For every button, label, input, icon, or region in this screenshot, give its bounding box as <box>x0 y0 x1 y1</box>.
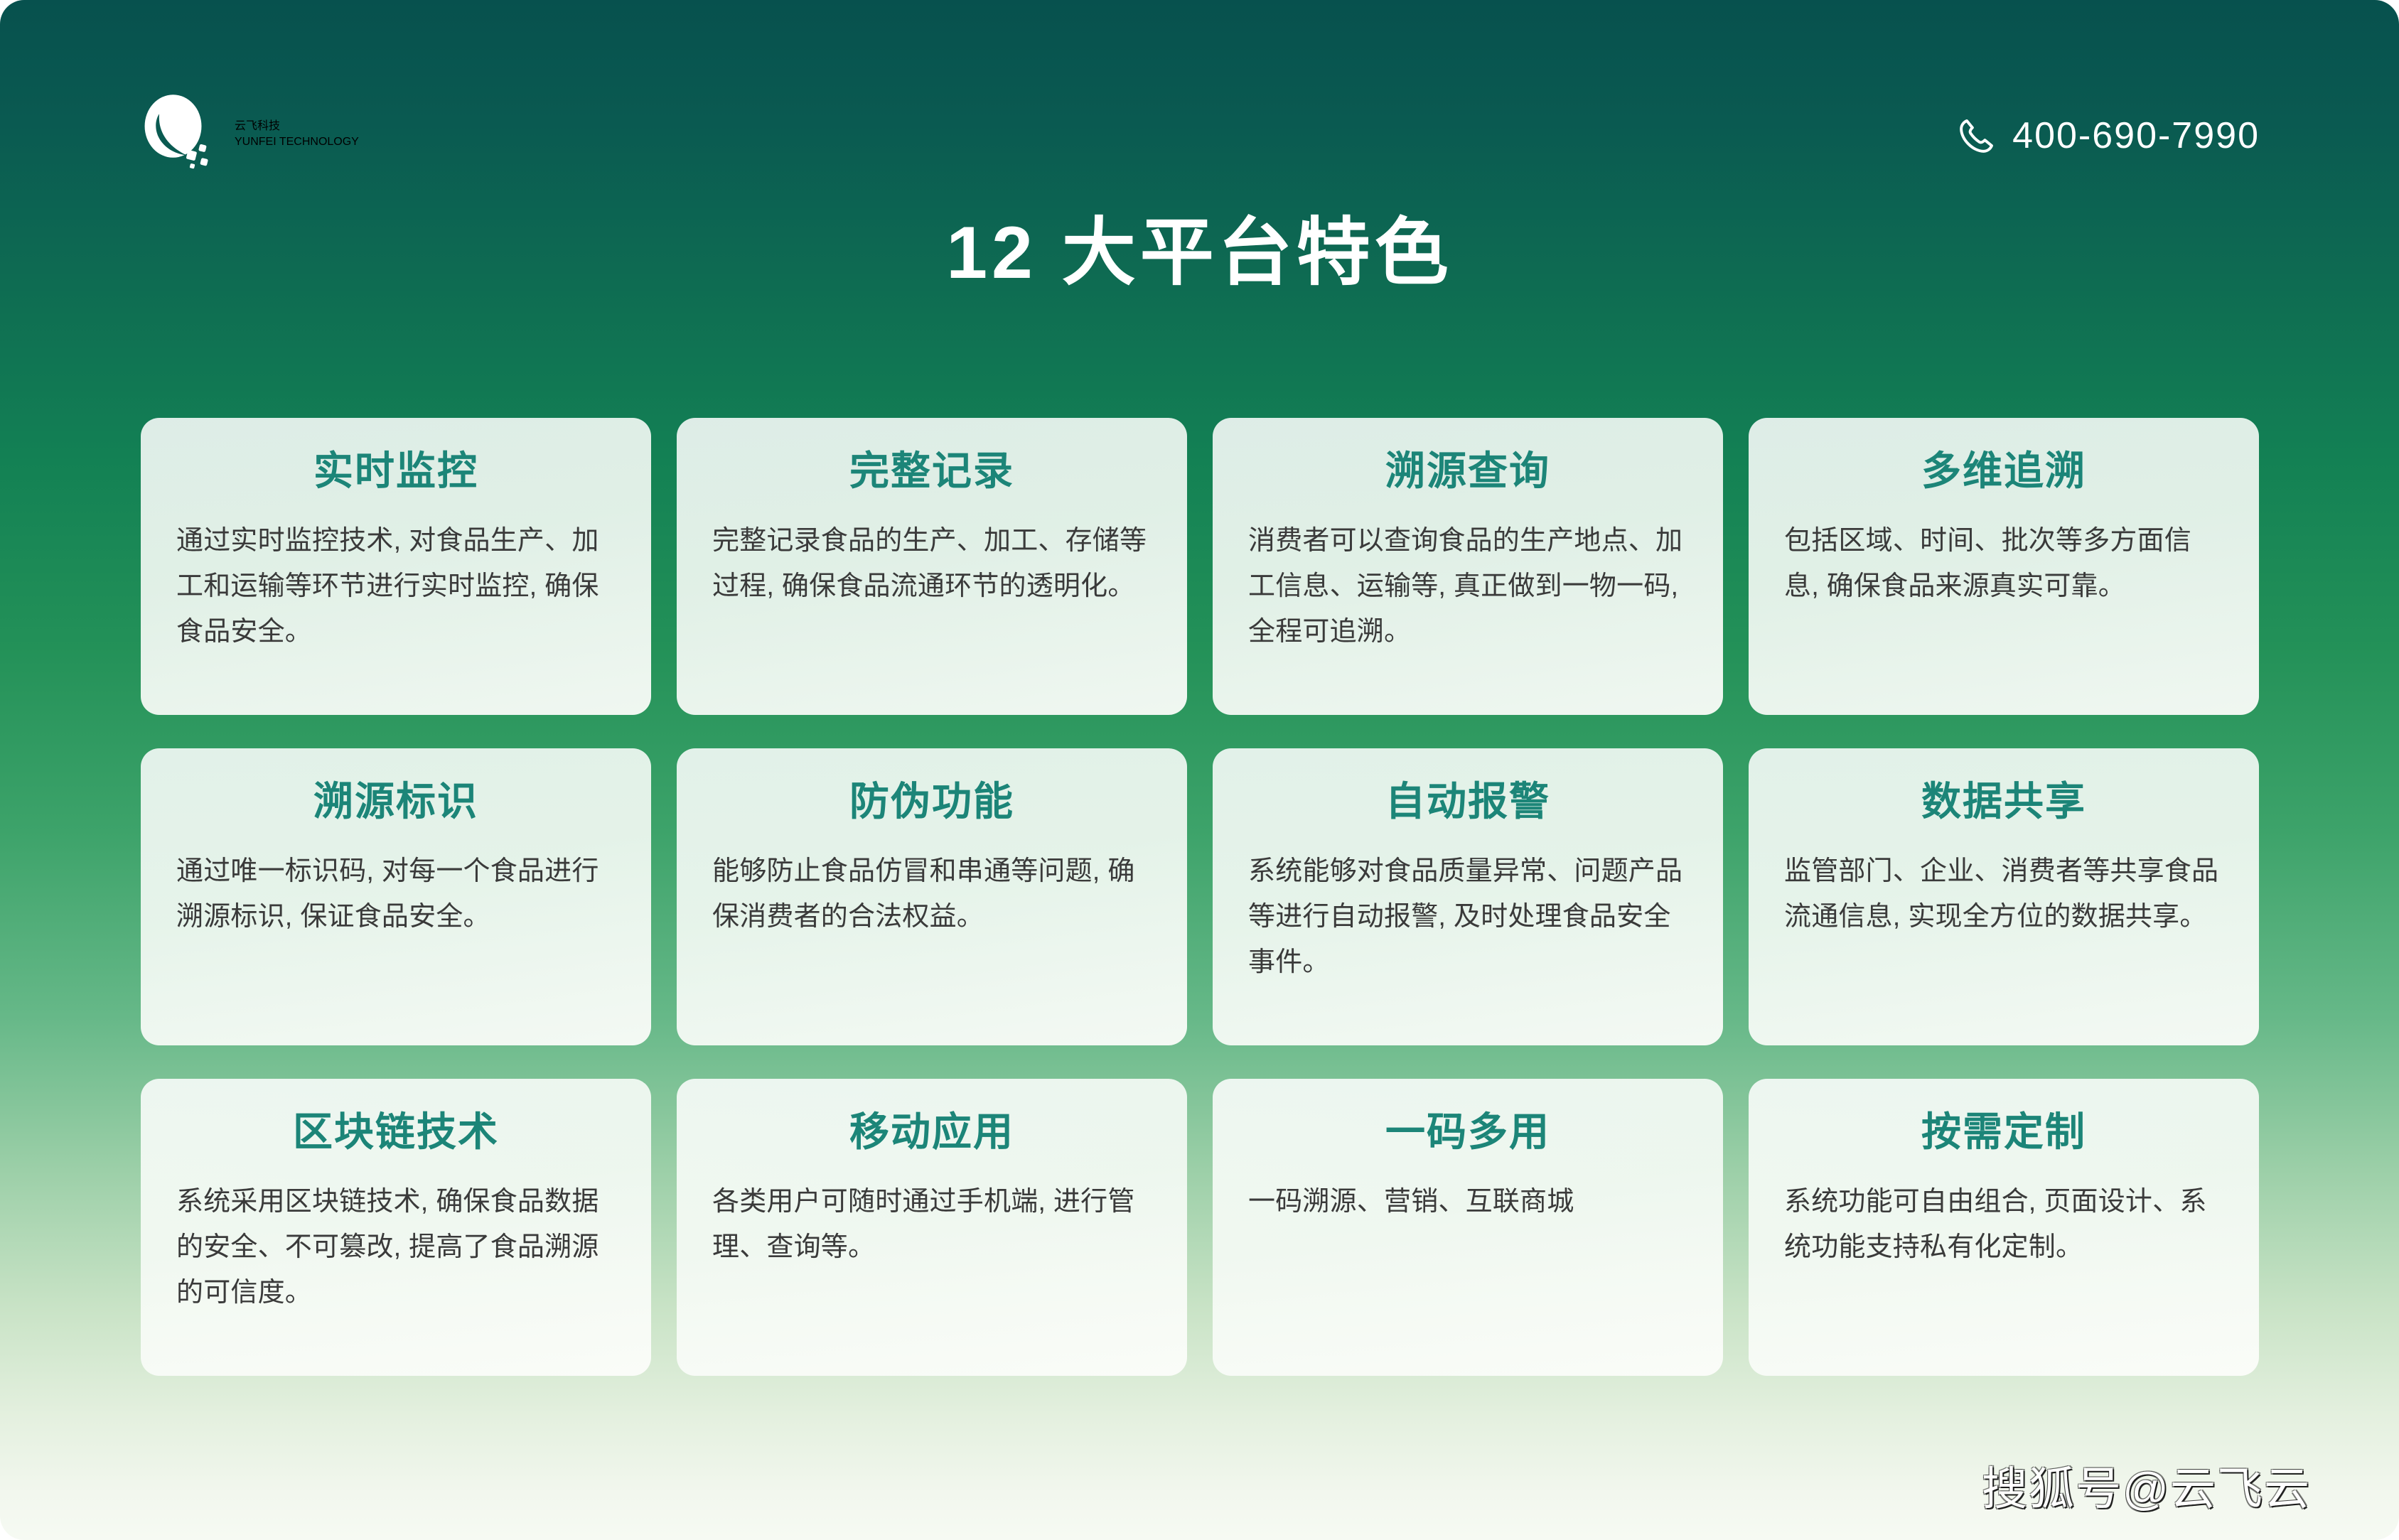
brand-name-cn: 云飞科技 <box>235 116 359 133</box>
poster-canvas: 云飞科技 YUNFEI TECHNOLOGY 400-690-7990 12 大… <box>0 0 2399 1540</box>
feature-card[interactable]: 按需定制 系统功能可自由组合, 页面设计、系统功能支持私有化定制。 <box>1749 1079 2259 1376</box>
feature-card[interactable]: 一码多用 一码溯源、营销、互联商城 <box>1213 1079 1723 1376</box>
feature-card-title: 自动报警 <box>1385 778 1550 825</box>
feature-card-body: 完整记录食品的生产、加工、存储等过程, 确保食品流通环节的透明化。 <box>712 519 1152 610</box>
phone-number: 400-690-7990 <box>2012 117 2260 154</box>
feature-card[interactable]: 区块链技术 系统采用区块链技术, 确保食品数据的安全、不可篡改, 提高了食品溯源… <box>141 1079 651 1376</box>
feature-card-body: 消费者可以查询食品的生产地点、加工信息、运输等, 真正做到一物一码, 全程可追溯… <box>1248 519 1687 655</box>
feature-card-title: 完整记录 <box>849 448 1014 495</box>
page-title: 12 大平台特色 <box>0 206 2399 301</box>
feature-card-title: 按需定制 <box>1921 1109 2086 1156</box>
feature-card-body: 系统能够对食品质量异常、问题产品等进行自动报警, 及时处理食品安全事件。 <box>1248 849 1687 985</box>
phone-handset-icon <box>1957 116 1997 156</box>
feature-card-body: 能够防止食品仿冒和串通等问题, 确保消费者的合法权益。 <box>712 849 1152 940</box>
feature-card[interactable]: 完整记录 完整记录食品的生产、加工、存储等过程, 确保食品流通环节的透明化。 <box>677 418 1187 715</box>
feature-card-title: 移动应用 <box>849 1109 1014 1156</box>
leaf-circle-logo-icon <box>139 92 216 169</box>
feature-card-title: 溯源标识 <box>313 778 478 825</box>
feature-card[interactable]: 自动报警 系统能够对食品质量异常、问题产品等进行自动报警, 及时处理食品安全事件… <box>1213 748 1723 1045</box>
brand-text: 云飞科技 YUNFEI TECHNOLOGY <box>235 113 359 149</box>
feature-card[interactable]: 多维追溯 包括区域、时间、批次等多方面信息, 确保食品来源真实可靠。 <box>1749 418 2259 715</box>
feature-card-title: 数据共享 <box>1921 778 2086 825</box>
feature-card[interactable]: 实时监控 通过实时监控技术, 对食品生产、加工和运输等环节进行实时监控, 确保食… <box>141 418 651 715</box>
feature-card-body: 通过实时监控技术, 对食品生产、加工和运输等环节进行实时监控, 确保食品安全。 <box>176 519 616 655</box>
feature-card-body: 监管部门、企业、消费者等共享食品流通信息, 实现全方位的数据共享。 <box>1784 849 2223 940</box>
feature-card-body: 系统功能可自由组合, 页面设计、系统功能支持私有化定制。 <box>1784 1180 2223 1271</box>
feature-card-title: 溯源查询 <box>1385 448 1550 495</box>
feature-card-title: 防伪功能 <box>849 778 1014 825</box>
feature-card-title: 实时监控 <box>313 448 478 495</box>
brand-lockup: 云飞科技 YUNFEI TECHNOLOGY <box>139 92 359 169</box>
feature-card-title: 多维追溯 <box>1921 448 2086 495</box>
feature-card-body: 包括区域、时间、批次等多方面信息, 确保食品来源真实可靠。 <box>1784 519 2223 610</box>
feature-card-title: 一码多用 <box>1385 1109 1550 1156</box>
feature-card[interactable]: 防伪功能 能够防止食品仿冒和串通等问题, 确保消费者的合法权益。 <box>677 748 1187 1045</box>
feature-card[interactable]: 移动应用 各类用户可随时通过手机端, 进行管理、查询等。 <box>677 1079 1187 1376</box>
poster-header: 云飞科技 YUNFEI TECHNOLOGY 400-690-7990 <box>0 0 2399 185</box>
brand-name-en: YUNFEI TECHNOLOGY <box>235 136 359 149</box>
feature-card[interactable]: 溯源标识 通过唯一标识码, 对每一个食品进行溯源标识, 保证食品安全。 <box>141 748 651 1045</box>
feature-card-body: 系统采用区块链技术, 确保食品数据的安全、不可篡改, 提高了食品溯源的可信度。 <box>176 1180 616 1315</box>
feature-card[interactable]: 溯源查询 消费者可以查询食品的生产地点、加工信息、运输等, 真正做到一物一码, … <box>1213 418 1723 715</box>
feature-card-body: 通过唯一标识码, 对每一个食品进行溯源标识, 保证食品安全。 <box>176 849 616 940</box>
feature-card-body: 一码溯源、营销、互联商城 <box>1248 1180 1687 1225</box>
feature-card[interactable]: 数据共享 监管部门、企业、消费者等共享食品流通信息, 实现全方位的数据共享。 <box>1749 748 2259 1045</box>
feature-card-title: 区块链技术 <box>293 1109 499 1156</box>
feature-card-grid: 实时监控 通过实时监控技术, 对食品生产、加工和运输等环节进行实时监控, 确保食… <box>141 418 2259 1376</box>
feature-card-body: 各类用户可随时通过手机端, 进行管理、查询等。 <box>712 1180 1152 1271</box>
contact-block[interactable]: 400-690-7990 <box>1957 116 2260 156</box>
watermark: 搜狐号@云飞云 <box>1982 1466 2311 1512</box>
